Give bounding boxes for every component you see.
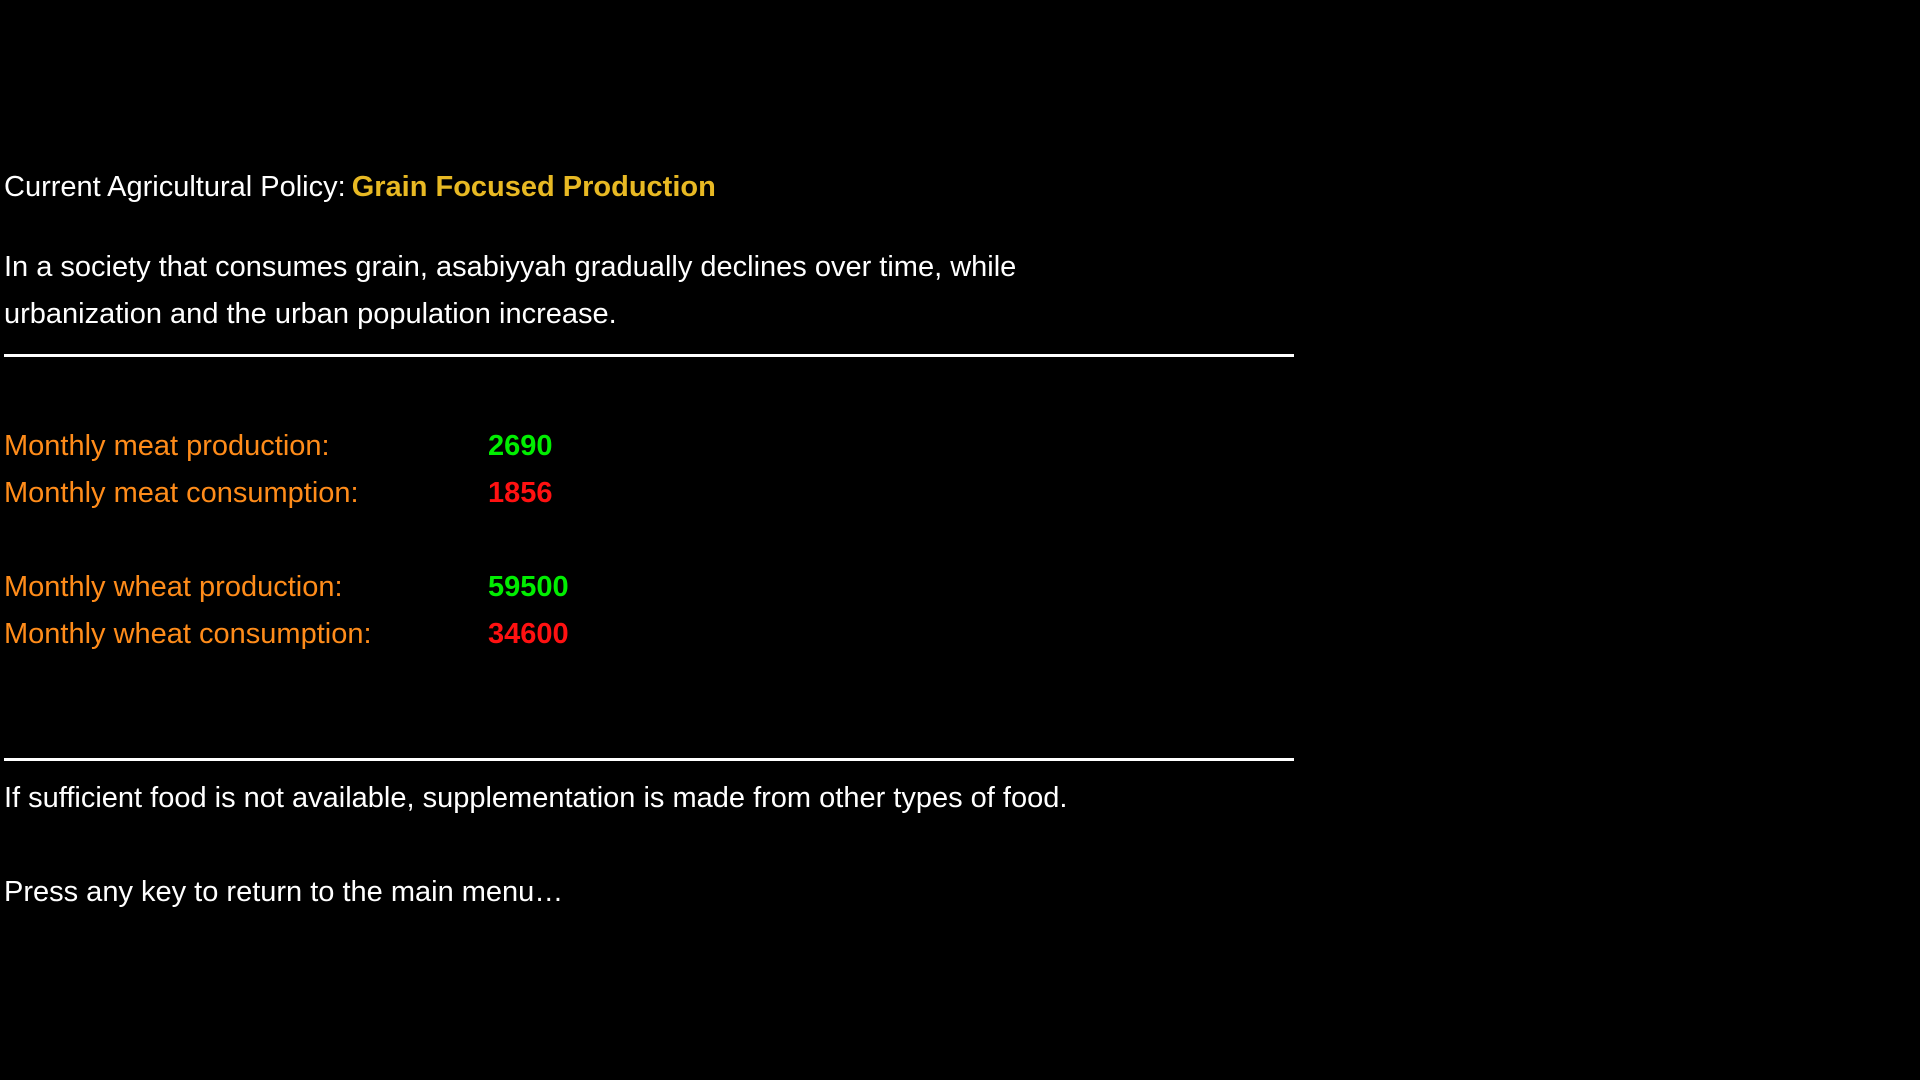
press-any-key-prompt[interactable]: Press any key to return to the main menu… — [4, 869, 1404, 916]
stat-row-wheat-consumption: Monthly wheat consumption: 34600 — [4, 611, 1404, 658]
stat-label-wheat-production: Monthly wheat production: — [4, 564, 488, 611]
report-content: Current Agricultural Policy:Grain Focuse… — [4, 168, 1404, 916]
stat-group-wheat: Monthly wheat production: 59500 Monthly … — [4, 564, 1404, 658]
stat-row-meat-production: Monthly meat production: 2690 — [4, 423, 1404, 470]
policy-description: In a society that consumes grain, asabiy… — [4, 244, 1289, 338]
stat-row-meat-consumption: Monthly meat consumption: 1856 — [4, 470, 1404, 517]
console-screen: Current Agricultural Policy:Grain Focuse… — [0, 0, 1920, 1080]
footer-note: If sufficient food is not available, sup… — [4, 775, 1404, 822]
stats-block: Monthly meat production: 2690 Monthly me… — [4, 423, 1404, 658]
stat-row-wheat-production: Monthly wheat production: 59500 — [4, 564, 1404, 611]
spacer — [4, 658, 1404, 758]
divider-top — [4, 354, 1294, 357]
stat-value-meat-consumption: 1856 — [488, 470, 553, 517]
stat-label-meat-consumption: Monthly meat consumption: — [4, 470, 488, 517]
description-line-1: In a society that consumes grain, asabiy… — [4, 244, 1289, 291]
policy-label: Current Agricultural Policy: — [4, 171, 346, 203]
description-line-2: urbanization and the urban population in… — [4, 291, 1289, 338]
divider-bottom — [4, 758, 1294, 761]
policy-line: Current Agricultural Policy:Grain Focuse… — [4, 168, 1404, 206]
footer-block: If sufficient food is not available, sup… — [4, 775, 1404, 916]
stat-value-meat-production: 2690 — [488, 423, 553, 470]
stat-value-wheat-production: 59500 — [488, 564, 569, 611]
stat-label-wheat-consumption: Monthly wheat consumption: — [4, 611, 488, 658]
stat-label-meat-production: Monthly meat production: — [4, 423, 488, 470]
stat-group-meat: Monthly meat production: 2690 Monthly me… — [4, 423, 1404, 517]
policy-value: Grain Focused Production — [352, 171, 716, 203]
stat-value-wheat-consumption: 34600 — [488, 611, 569, 658]
